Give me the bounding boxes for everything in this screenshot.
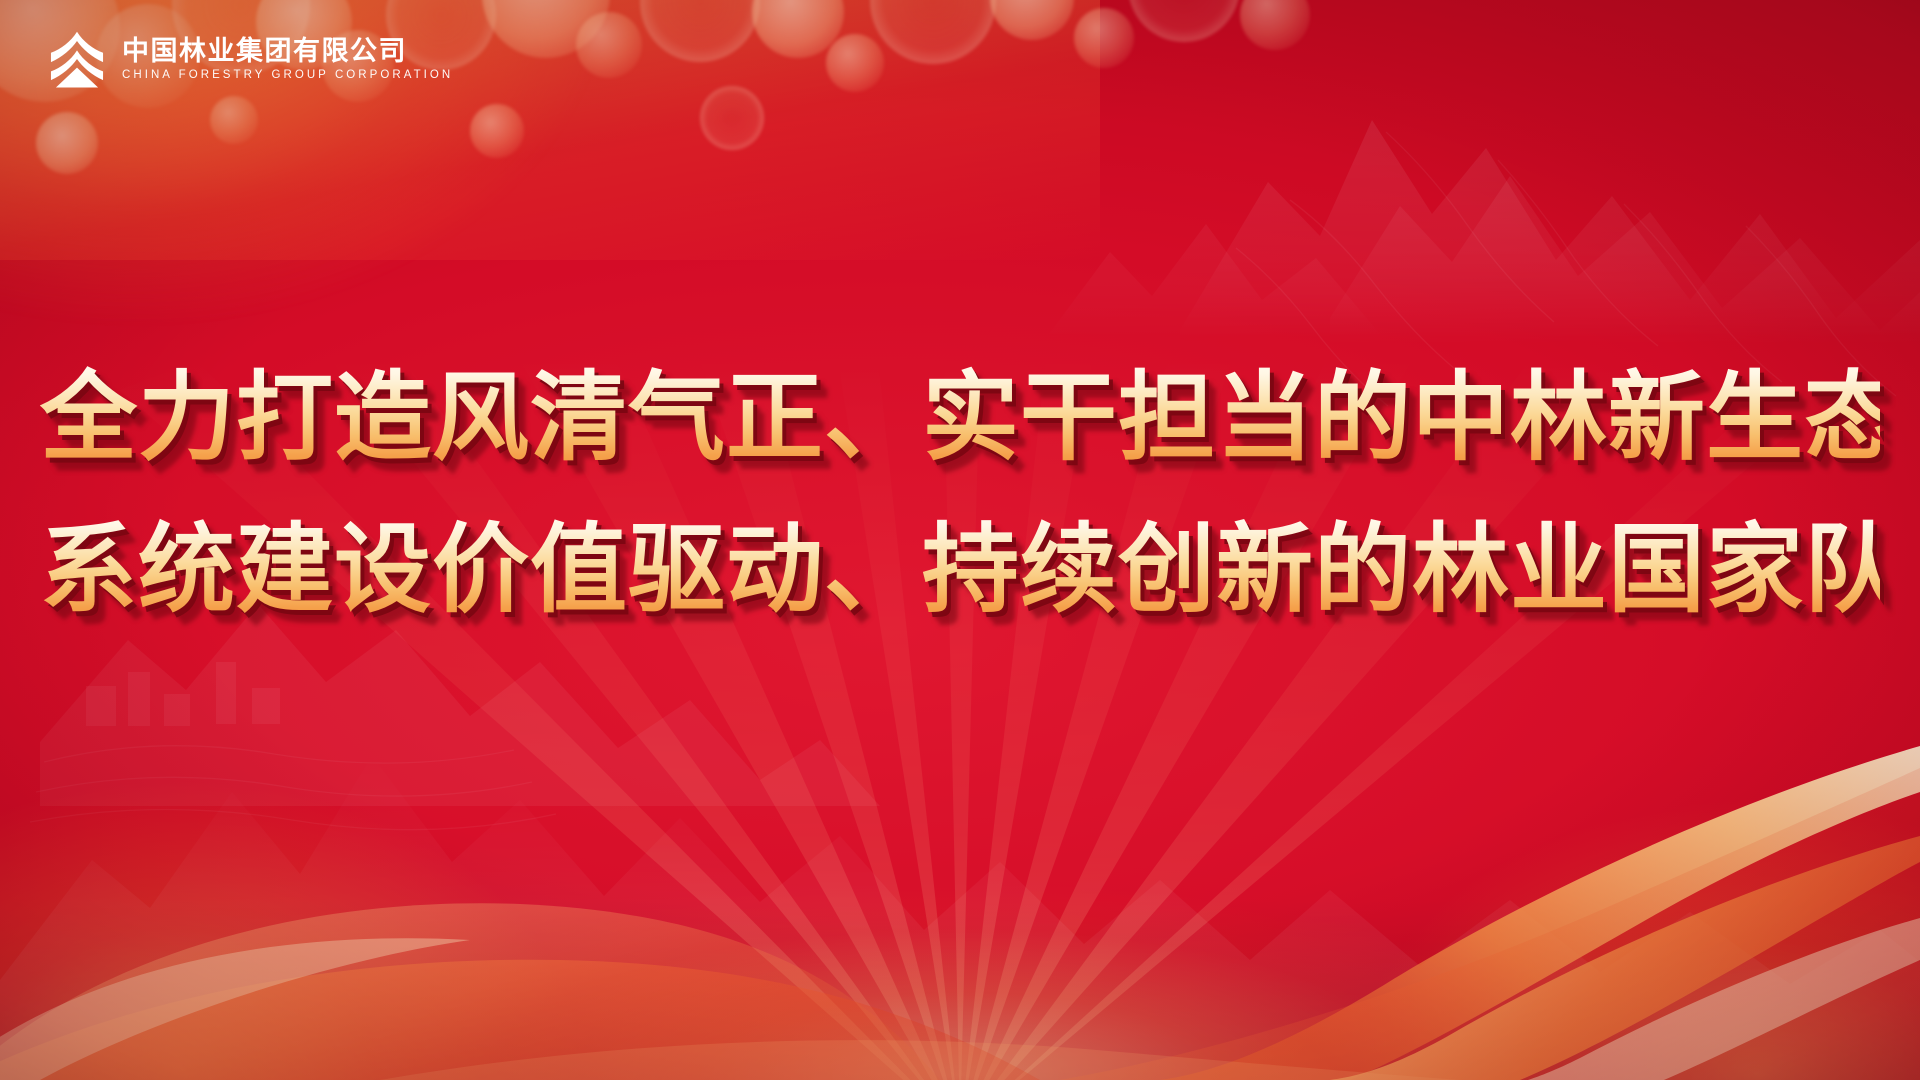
headline-line-2: 系统建设价值驱动、持续创新的林业国家队 bbox=[40, 504, 1880, 636]
china-forestry-group-tree-mark bbox=[46, 28, 108, 90]
headline-line-1: 全力打造风清气正、实干担当的中林新生态 bbox=[40, 352, 1880, 484]
promotional-banner: 中国林业集团有限公司 CHINA FORESTRY GROUP CORPORAT… bbox=[0, 0, 1920, 1080]
logo-company-name-en: CHINA FORESTRY GROUP CORPORATION bbox=[122, 70, 453, 82]
company-logo[interactable]: 中国林业集团有限公司 CHINA FORESTRY GROUP CORPORAT… bbox=[46, 28, 453, 90]
logo-wordmark: 中国林业集团有限公司 CHINA FORESTRY GROUP CORPORAT… bbox=[122, 36, 453, 82]
headline-block: 全力打造风清气正、实干担当的中林新生态 系统建设价值驱动、持续创新的林业国家队 bbox=[0, 352, 1920, 636]
logo-company-name-cn: 中国林业集团有限公司 bbox=[122, 38, 453, 65]
